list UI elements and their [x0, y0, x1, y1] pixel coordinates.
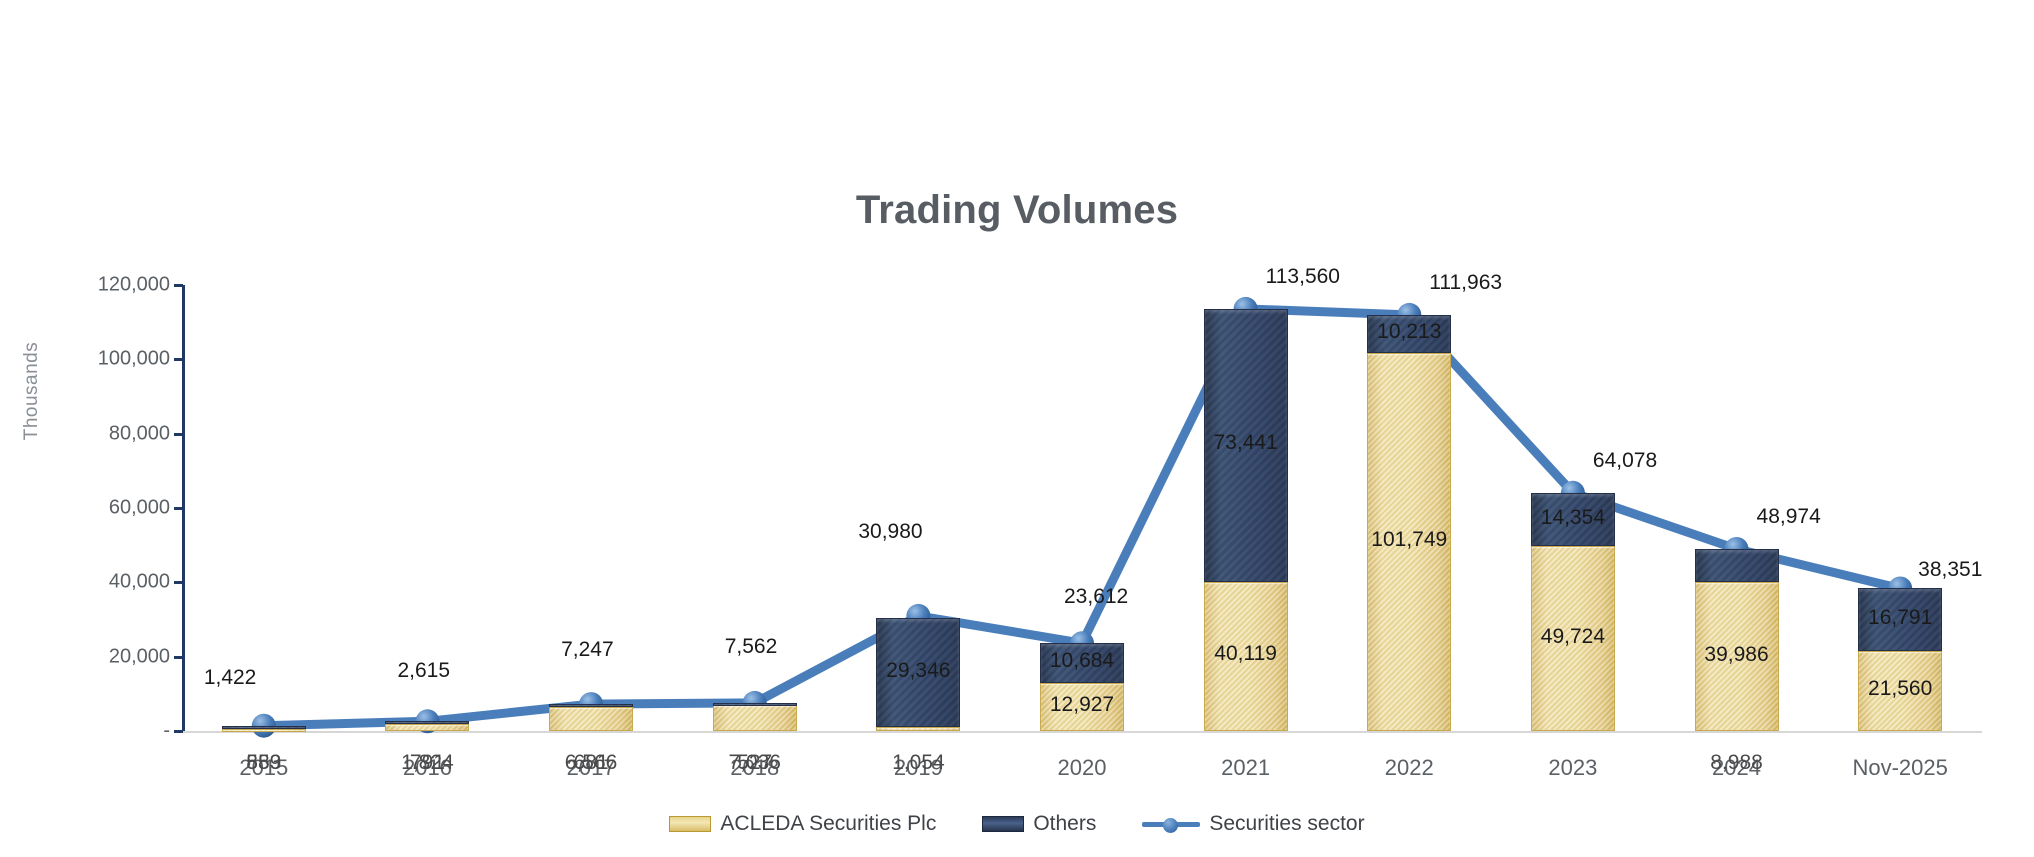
y-axis-tick-label: 40,000	[20, 571, 170, 594]
legend-swatch-line-icon	[1142, 816, 1200, 832]
bar-segment-others[interactable]	[1204, 309, 1288, 582]
line-data-label: 7,562	[725, 635, 778, 659]
bar-segment-others[interactable]	[1858, 588, 1942, 650]
line-data-label: 64,078	[1593, 449, 1657, 473]
bar-segment-others[interactable]	[1531, 493, 1615, 546]
bar-segment-others[interactable]	[1695, 549, 1779, 582]
trading-volumes-chart: Trading Volumes Thousands 120,000100,000…	[0, 0, 2034, 857]
line-data-label: 1,422	[204, 666, 257, 690]
y-axis-tick-label: 20,000	[20, 645, 170, 668]
legend-swatch-navy-icon	[982, 816, 1024, 832]
line-data-label: 7,247	[561, 638, 614, 662]
bar-segment-others[interactable]	[385, 721, 469, 724]
bar-segment-acleda[interactable]	[713, 705, 797, 731]
bar-segment-others[interactable]	[549, 704, 633, 707]
bar-segment-acleda[interactable]	[1367, 353, 1451, 731]
y-axis-tick-label: 120,000	[20, 274, 170, 297]
line-data-label: 48,974	[1757, 505, 1821, 529]
y-axis-tick-label: 80,000	[20, 422, 170, 445]
chart-legend: ACLEDA Securities PlcOthersSecurities se…	[0, 812, 2034, 836]
y-axis-tick-label: 100,000	[20, 348, 170, 371]
legend-item-label: Securities sector	[1209, 812, 1364, 836]
x-axis-tick-label: 2019	[828, 755, 1008, 781]
legend-item-label: Others	[1033, 812, 1096, 836]
y-axis-tick-label: 60,000	[20, 497, 170, 520]
x-axis-tick-label: 2021	[1156, 755, 1336, 781]
legend-item[interactable]: ACLEDA Securities Plc	[669, 812, 936, 836]
bar-segment-acleda[interactable]	[549, 707, 633, 731]
line-data-label: 111,963	[1429, 271, 1502, 295]
bar-segment-acleda[interactable]	[1858, 651, 1942, 731]
x-axis-tick-label: 2017	[501, 755, 681, 781]
bar-segment-acleda[interactable]	[1204, 582, 1288, 731]
y-axis-tick-label: -	[20, 720, 170, 743]
chart-title: Trading Volumes	[0, 188, 2034, 233]
x-axis-tick-label: 2016	[337, 755, 517, 781]
x-axis-tick-label: 2020	[992, 755, 1172, 781]
bar-segment-acleda[interactable]	[222, 729, 306, 732]
line-data-label: 23,612	[1064, 585, 1128, 609]
bar-segment-acleda[interactable]	[1695, 582, 1779, 731]
line-data-label: 30,980	[858, 520, 922, 544]
bar-segment-acleda[interactable]	[876, 727, 960, 731]
bar-segment-others[interactable]	[222, 726, 306, 729]
legend-item[interactable]: Securities sector	[1142, 812, 1364, 836]
legend-swatch-gold-icon	[669, 816, 711, 832]
bar-segment-others[interactable]	[876, 618, 960, 727]
legend-item-label: ACLEDA Securities Plc	[720, 812, 936, 836]
bar-segment-others[interactable]	[1040, 643, 1124, 683]
x-axis-tick-label: 2018	[665, 755, 845, 781]
bar-segment-acleda[interactable]	[1040, 683, 1124, 731]
x-axis-tick-label: 2022	[1319, 755, 1499, 781]
x-axis-tick-label: Nov-2025	[1810, 755, 1990, 781]
bar-segment-acleda[interactable]	[1531, 546, 1615, 731]
bar-segment-others[interactable]	[713, 703, 797, 706]
x-axis-tick-label: 2024	[1647, 755, 1827, 781]
x-axis-tick-label: 2023	[1483, 755, 1663, 781]
bar-segment-acleda[interactable]	[385, 724, 469, 731]
line-data-label: 113,560	[1266, 265, 1340, 289]
legend-item[interactable]: Others	[982, 812, 1096, 836]
bar-segment-others[interactable]	[1367, 315, 1451, 353]
line-data-label: 2,615	[397, 659, 450, 683]
x-axis-tick-label: 2015	[174, 755, 354, 781]
line-data-label: 38,351	[1918, 558, 1982, 582]
